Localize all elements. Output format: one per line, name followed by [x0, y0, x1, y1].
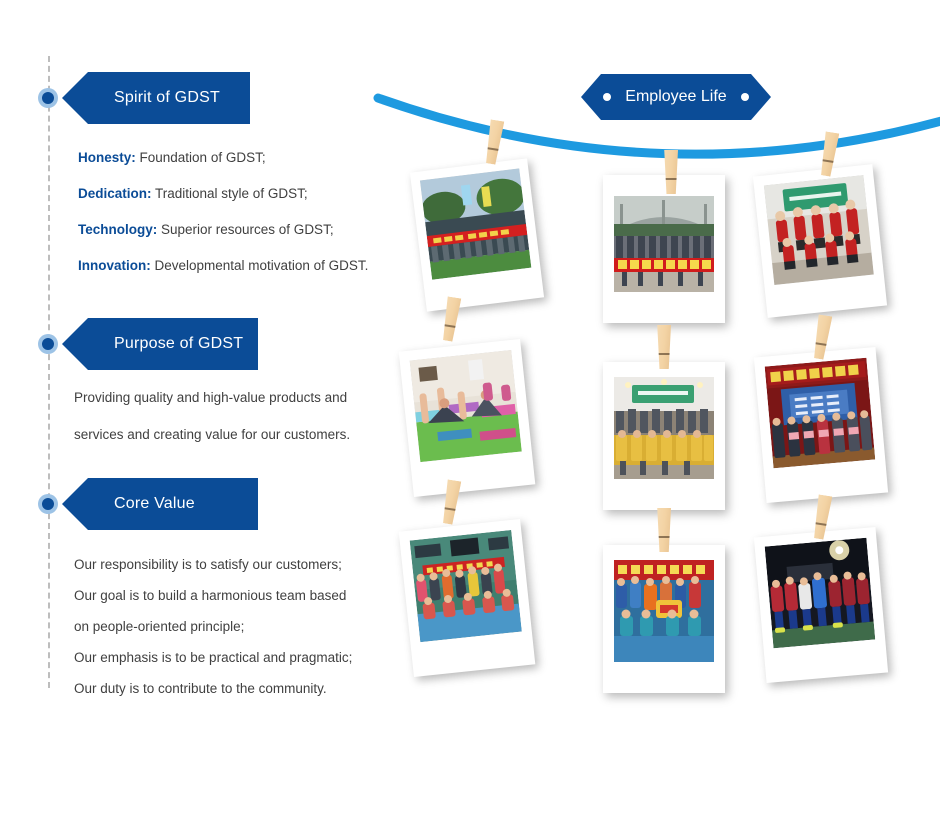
core-line-1: Our responsibility is to satisfy our cus… — [74, 557, 352, 572]
photo-award-ceremony[interactable] — [754, 347, 888, 503]
clothespin-icon-r1c1 — [482, 119, 505, 165]
section-banner-spirit-label: Spirit of GDST — [114, 89, 220, 107]
photo-badminton-team[interactable] — [603, 545, 725, 693]
spirit-key-innovation: Innovation: — [78, 258, 151, 273]
spirit-value-technology: Superior resources of GDST; — [157, 222, 333, 237]
photo-assembly-red-banner[interactable] — [603, 175, 725, 323]
timeline-dot-purpose — [38, 334, 58, 354]
spirit-line-innovation: Innovation: Developmental motivation of … — [78, 258, 368, 273]
purpose-line-1: Providing quality and high-value product… — [74, 390, 350, 405]
timeline-rail — [48, 56, 50, 688]
core-line-2: Our goal is to build a harmonious team b… — [74, 588, 352, 603]
employee-life-title-label: Employee Life — [625, 88, 726, 106]
photo-children-visit[interactable] — [603, 362, 725, 510]
photo-gym-group[interactable] — [399, 519, 536, 677]
bullet-dot-icon-left — [603, 93, 611, 101]
spirit-line-dedication: Dedication: Traditional style of GDST; — [78, 186, 368, 201]
photo-yoga-class[interactable] — [399, 339, 536, 497]
section-banner-purpose-label: Purpose of GDST — [114, 335, 243, 353]
timeline-dot-core — [38, 494, 58, 514]
spirit-value-dedication: Traditional style of GDST; — [152, 186, 308, 201]
timeline-dot-spirit — [38, 88, 58, 108]
purpose-line-2: services and creating value for our cust… — [74, 427, 350, 442]
core-value-text: Our responsibility is to satisfy our cus… — [74, 557, 352, 712]
core-line-3: on people-oriented principle; — [74, 619, 352, 634]
core-line-4: Our emphasis is to be practical and prag… — [74, 650, 352, 665]
section-banner-spirit[interactable]: Spirit of GDST — [62, 72, 250, 124]
photo-outdoor-team-banner[interactable] — [410, 158, 544, 311]
section-banner-core-value[interactable]: Core Value — [62, 478, 258, 530]
section-banner-core-value-label: Core Value — [114, 495, 195, 513]
spirit-value-honesty: Foundation of GDST; — [136, 150, 266, 165]
spirit-key-technology: Technology: — [78, 222, 157, 237]
employee-life-title[interactable]: Employee Life — [581, 74, 771, 120]
photo-night-football[interactable] — [754, 527, 888, 683]
spirit-key-honesty: Honesty: — [78, 150, 136, 165]
spirit-key-dedication: Dedication: — [78, 186, 152, 201]
bullet-dot-icon-right — [741, 93, 749, 101]
spirit-line-honesty: Honesty: Foundation of GDST; — [78, 150, 368, 165]
section-banner-purpose[interactable]: Purpose of GDST — [62, 318, 258, 370]
spirit-value-innovation: Developmental motivation of GDST. — [151, 258, 369, 273]
photo-basketball-team[interactable] — [753, 164, 887, 318]
core-line-5: Our duty is to contribute to the communi… — [74, 681, 352, 696]
purpose-of-gdst-text: Providing quality and high-value product… — [74, 390, 350, 442]
spirit-line-technology: Technology: Superior resources of GDST; — [78, 222, 368, 237]
spirit-of-gdst-text: Honesty: Foundation of GDST; Dedication:… — [78, 150, 368, 273]
employee-life-panel: Employee Life — [370, 0, 940, 815]
